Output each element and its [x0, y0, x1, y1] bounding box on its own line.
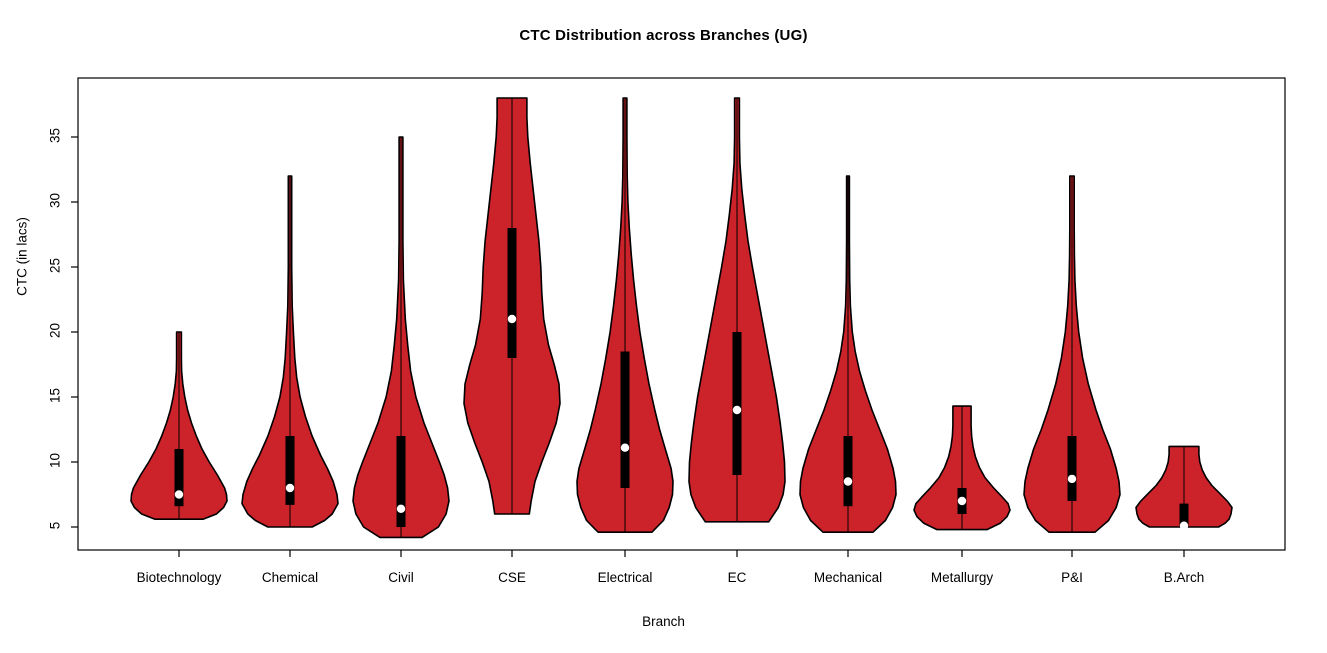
median-point	[958, 497, 966, 505]
x-tick-label: Metallurgy	[931, 570, 993, 585]
y-tick-label: 35	[48, 121, 63, 151]
x-tick-label: Electrical	[598, 570, 653, 585]
y-tick-label: 20	[48, 316, 63, 346]
y-tick-label: 10	[48, 446, 63, 476]
iqr-box	[844, 436, 853, 506]
y-tick-label: 30	[48, 186, 63, 216]
x-tick-label: CSE	[498, 570, 526, 585]
median-point	[733, 406, 741, 414]
x-tick-label: Biotechnology	[137, 570, 222, 585]
median-point	[1068, 475, 1076, 483]
iqr-box	[1068, 436, 1077, 501]
iqr-box	[621, 352, 630, 489]
y-tick-label: 15	[48, 381, 63, 411]
iqr-box	[397, 436, 406, 527]
median-point	[286, 484, 294, 492]
median-point	[621, 444, 629, 452]
violin-plot	[0, 0, 1327, 653]
violin-group	[131, 98, 1232, 537]
x-tick-label: Mechanical	[814, 570, 882, 585]
median-point	[844, 477, 852, 485]
chart-canvas: CTC Distribution across Branches (UG) CT…	[0, 0, 1327, 653]
x-tick-label: B.Arch	[1164, 570, 1205, 585]
x-tick-label: Chemical	[262, 570, 318, 585]
median-point	[508, 315, 516, 323]
x-tick-label: Civil	[388, 570, 414, 585]
x-tick-label: EC	[728, 570, 747, 585]
iqr-box	[286, 436, 295, 505]
y-tick-label: 25	[48, 251, 63, 281]
median-point	[175, 490, 183, 498]
iqr-box	[733, 332, 742, 475]
median-point	[1180, 522, 1188, 530]
x-tick-label: P&I	[1061, 570, 1083, 585]
y-tick-label: 5	[48, 511, 63, 541]
median-point	[397, 505, 405, 513]
iqr-box	[508, 228, 517, 358]
